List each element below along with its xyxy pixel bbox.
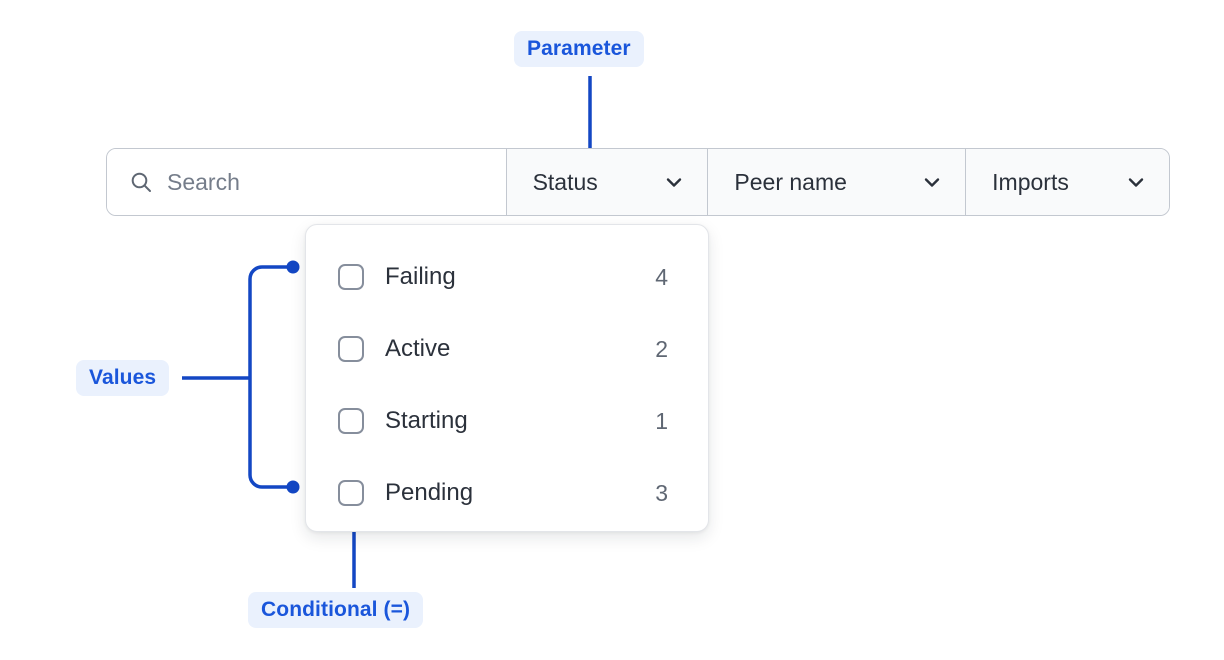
annotation-label-values: Values	[76, 360, 169, 396]
dropdown-option-active[interactable]: Active 2	[306, 313, 708, 385]
filter-bar: Status Peer name Imports	[106, 148, 1170, 216]
dropdown-option-count: 4	[654, 264, 668, 291]
chevron-down-icon	[663, 171, 685, 193]
filter-label-imports: Imports	[992, 169, 1069, 196]
chevron-down-icon	[1125, 171, 1147, 193]
dropdown-option-label: Pending	[385, 479, 654, 507]
dropdown-option-label: Active	[385, 335, 654, 363]
filter-label-status: Status	[533, 169, 598, 196]
values-bracket	[250, 267, 293, 487]
filter-label-peer-name: Peer name	[734, 169, 847, 196]
annotated-filter-diagram: Parameter Values Conditional (=) Status …	[0, 0, 1224, 660]
checkbox-pending[interactable]	[338, 480, 364, 506]
values-leader-dot-top	[287, 261, 300, 274]
dropdown-option-starting[interactable]: Starting 1	[306, 385, 708, 457]
dropdown-option-count: 1	[654, 408, 668, 435]
annotation-label-conditional: Conditional (=)	[248, 592, 423, 628]
checkbox-active[interactable]	[338, 336, 364, 362]
checkbox-failing[interactable]	[338, 264, 364, 290]
dropdown-option-count: 2	[654, 336, 668, 363]
filter-dropdown-imports[interactable]: Imports	[966, 149, 1169, 215]
chevron-down-icon	[921, 171, 943, 193]
search-field[interactable]	[107, 149, 507, 215]
checkbox-starting[interactable]	[338, 408, 364, 434]
filter-dropdown-peer-name[interactable]: Peer name	[708, 149, 966, 215]
dropdown-option-failing[interactable]: Failing 4	[306, 241, 708, 313]
dropdown-option-label: Failing	[385, 263, 654, 291]
search-icon	[129, 170, 153, 194]
dropdown-option-pending[interactable]: Pending 3	[306, 457, 708, 529]
annotation-label-parameter: Parameter	[514, 31, 644, 67]
filter-dropdown-status[interactable]: Status	[507, 149, 709, 215]
values-leader-dot-bottom	[287, 481, 300, 494]
status-dropdown-panel: Failing 4 Active 2 Starting 1 Pending 3	[305, 224, 709, 532]
search-input[interactable]	[167, 169, 467, 196]
dropdown-option-count: 3	[654, 480, 668, 507]
dropdown-option-label: Starting	[385, 407, 654, 435]
